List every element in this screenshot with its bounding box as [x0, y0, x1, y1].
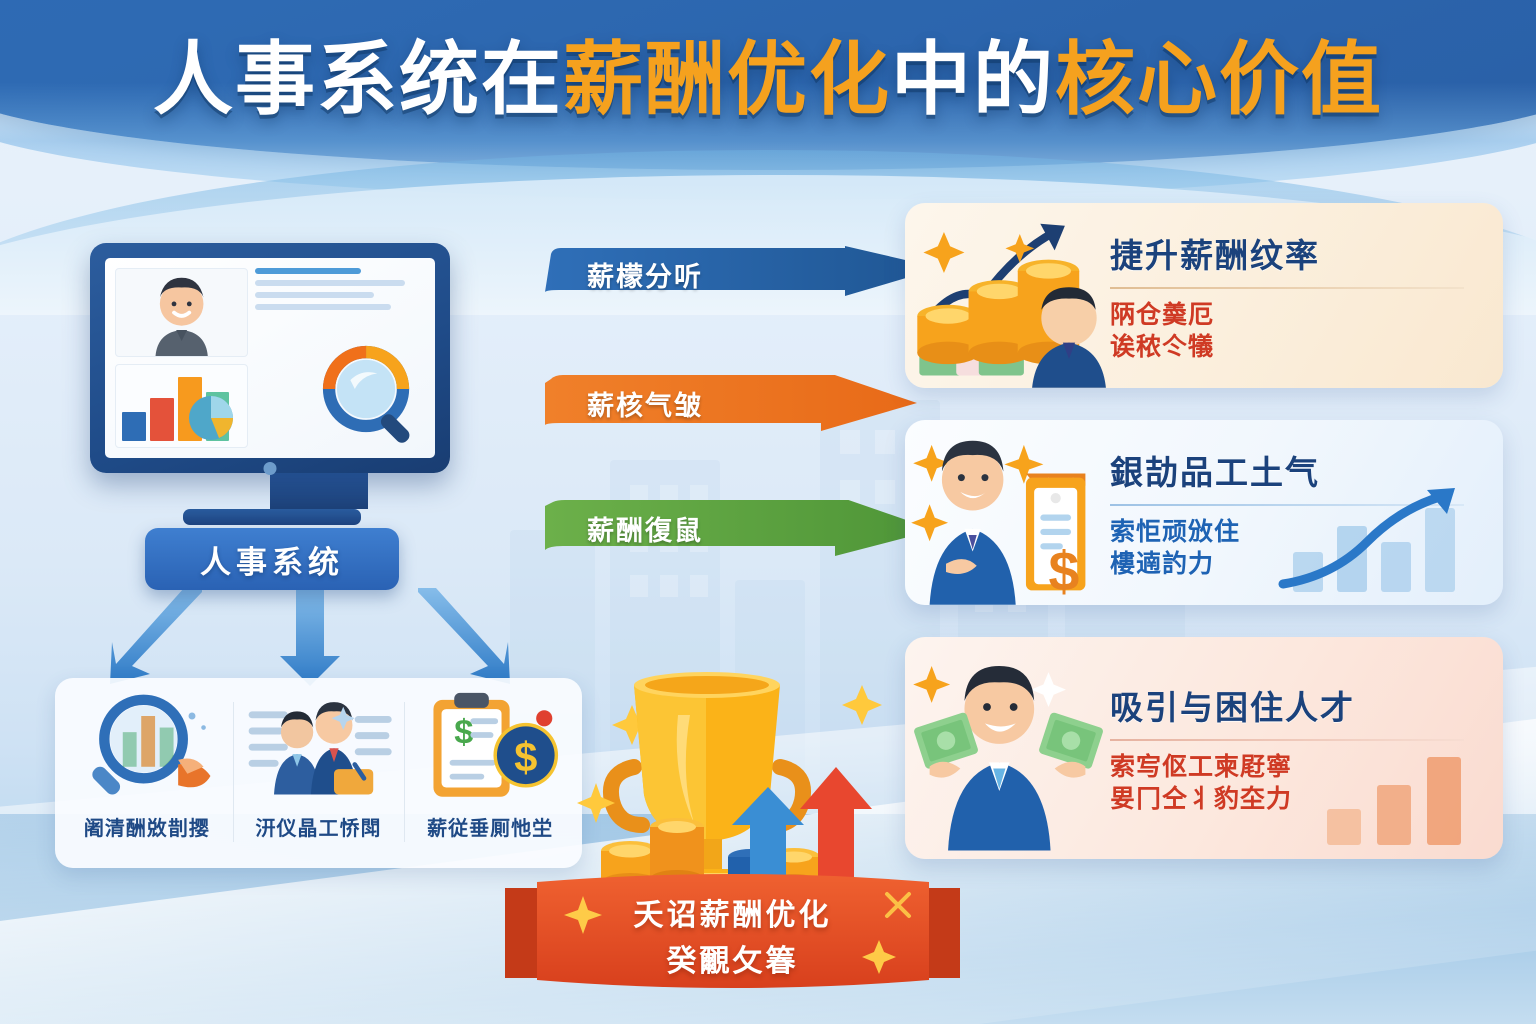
- title-part-2: 薪酬优化: [563, 35, 891, 124]
- monitor-stand: [270, 473, 368, 509]
- magnifier-chart-icon: [72, 688, 222, 804]
- panel-line: [255, 292, 374, 298]
- pie-chart-icon: [183, 390, 243, 444]
- value-card-2[interactable]: $ 銀劼品工土气 索怇顽攽住 樓遖訋力: [905, 420, 1503, 605]
- capability-item-3-label: 薪従垂厠忚坣: [427, 812, 553, 841]
- capability-item-2[interactable]: 汧仪晶工㤭閗: [233, 688, 405, 860]
- svg-text:$: $: [454, 714, 473, 752]
- svg-text:$: $: [514, 733, 537, 780]
- value-card-1-title: 捷升薪酬纹率: [1110, 229, 1479, 277]
- employee-award-icon: $: [905, 420, 1110, 605]
- coins-growth-icon: [905, 203, 1110, 388]
- capability-item-3[interactable]: $ $ 薪従垂厠忚坣: [404, 688, 576, 860]
- employee-photo-icon: [115, 268, 248, 357]
- hr-system-badge-label: 人事系统: [200, 537, 344, 582]
- flow-arrow-2[interactable]: 薪核气皱: [545, 375, 917, 431]
- title-part-3: 中的: [891, 35, 1055, 124]
- value-card-3-title: 吸引与困住人才: [1110, 681, 1479, 729]
- ribbon-line-1: 夭诏薪酬优化: [634, 890, 832, 934]
- svg-text:$: $: [1049, 540, 1080, 602]
- employees-icon: [244, 688, 394, 804]
- hr-system-badge[interactable]: 人事系统: [145, 528, 399, 590]
- bottom-ribbon: 夭诏薪酬优化 癸覼攵箺: [505, 872, 960, 998]
- ribbon-text: 夭诏薪酬优化 癸覼攵箺: [505, 872, 960, 998]
- flow-arrow-3-label: 薪酬復鼠: [545, 509, 703, 548]
- branch-arrows-down: [110, 588, 510, 688]
- flow-arrow-1-label: 薪檬分听: [545, 255, 703, 294]
- monitor-base: [183, 509, 361, 525]
- value-card-1-sub-2: 诶秾仒犠: [1110, 331, 1479, 363]
- flow-arrow-2-label: 薪核气皱: [545, 384, 703, 423]
- monitor-power-dot: [264, 462, 277, 475]
- capabilities-panel: 阇清酬敚剒撄: [55, 678, 582, 868]
- flow-arrow-1[interactable]: 薪檬分听: [545, 246, 940, 302]
- value-card-1-sub-1: 陃仓羮厄: [1110, 299, 1479, 331]
- value-card-1[interactable]: 捷升薪酬纹率 陃仓羮厄 诶秾仒犠: [905, 203, 1503, 388]
- value-card-1-text: 捷升薪酬纹率 陃仓羮厄 诶秾仒犠: [1110, 229, 1503, 363]
- capability-item-1-label: 阇清酬敚剒撄: [84, 812, 210, 841]
- clipboard-dollar-icon: $ $: [415, 688, 565, 804]
- growth-chart-decoration: [1271, 480, 1481, 595]
- title-part-1: 人事系统在: [153, 35, 563, 124]
- ribbon-line-2: 癸覼攵箺: [667, 936, 799, 980]
- panel-header-line: [255, 268, 360, 274]
- card-divider: [1110, 287, 1464, 289]
- capability-item-2-label: 汧仪晶工㤭閗: [256, 812, 382, 841]
- talent-cash-icon: [905, 637, 1110, 859]
- title-part-4: 核心价值: [1055, 35, 1383, 124]
- flow-arrow-3[interactable]: 薪酬復鼠: [545, 500, 935, 556]
- magnifier-icon: [319, 342, 431, 454]
- monitor-screen: [105, 258, 435, 458]
- infographic-canvas: 人事系统在薪酬优化中的核心价值: [0, 0, 1536, 1024]
- hr-system-monitor: [90, 243, 450, 473]
- monitor-right-column: [255, 268, 425, 448]
- panel-line: [255, 304, 391, 310]
- page-title: 人事系统在薪酬优化中的核心价值: [0, 38, 1536, 122]
- capability-item-1[interactable]: 阇清酬敚剒撄: [61, 688, 233, 860]
- value-card-3[interactable]: 吸引与困住人才 索㝍伛工柬屘寧 㚻冂仝丬豹圶力: [905, 637, 1503, 859]
- orange-bars-decoration: [1315, 735, 1485, 845]
- panel-line: [255, 280, 404, 286]
